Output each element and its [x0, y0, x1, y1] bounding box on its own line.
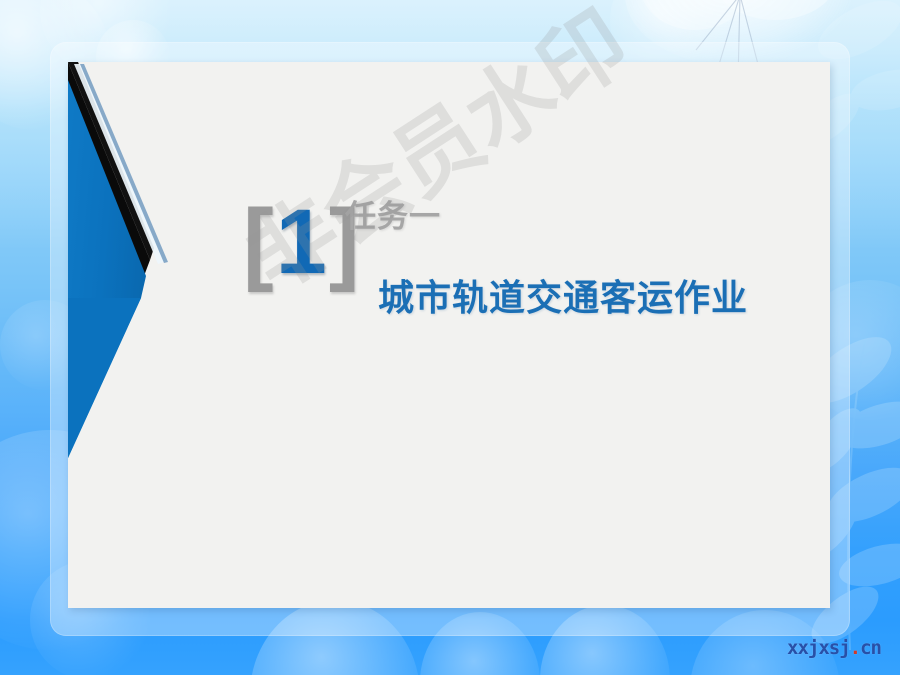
- site-watermark-suffix: cn: [860, 637, 881, 659]
- slide-subtitle: 任务一: [345, 198, 441, 236]
- slide-canvas: [1] 任务一 城市轨道交通客运作业 非会员水印 xxjxsj.cn: [0, 0, 900, 675]
- site-watermark: xxjxsj.cn: [787, 637, 881, 659]
- section-number-bracket: [1]: [243, 196, 361, 288]
- site-watermark-dot: .: [850, 637, 860, 659]
- site-watermark-prefix: xxjxsj: [787, 637, 850, 659]
- slide-title: 城市轨道交通客运作业: [378, 276, 748, 320]
- bracket-open: [: [243, 191, 276, 293]
- text-layer: [1] 任务一 城市轨道交通客运作业: [0, 0, 900, 675]
- section-number: 1: [276, 191, 329, 293]
